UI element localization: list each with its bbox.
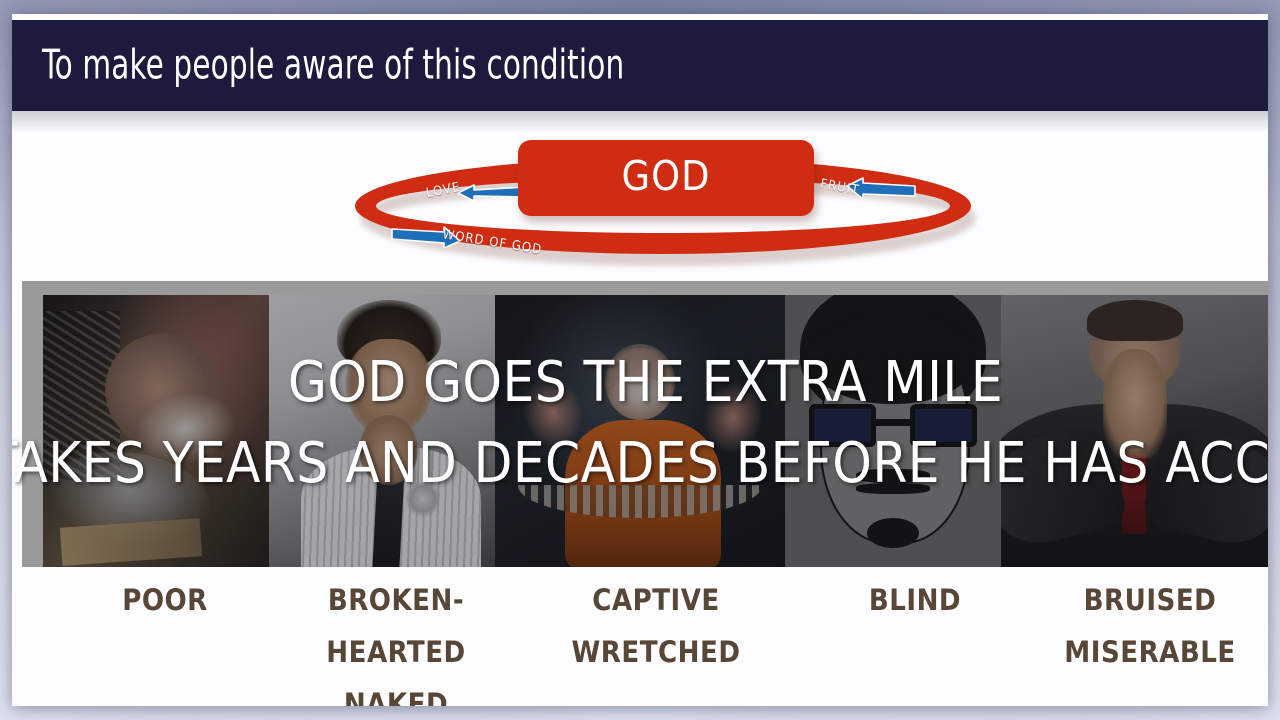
label-column-poor: POOR (80, 574, 250, 626)
condition-word: MISERABLE (1032, 626, 1268, 678)
photo-poor (43, 295, 269, 567)
god-cycle-diagram: LOVE FRUIT WORD OF GOD GOD (350, 144, 980, 274)
photo-strip (22, 281, 1268, 567)
page-title: To make people aware of this condition (42, 44, 624, 85)
photo-row (43, 295, 1268, 567)
banner-shadow (12, 111, 1268, 133)
label-column-broken-hearted: BROKEN-HEARTED NAKED (272, 574, 520, 706)
condition-word: BRUISED (1032, 574, 1268, 626)
photo-bruised (1001, 295, 1268, 567)
condition-word: CAPTIVE (532, 574, 780, 626)
condition-word: POOR (80, 574, 250, 626)
presentation-slide: To make people aware of this condition L… (12, 14, 1268, 706)
label-column-captive: CAPTIVE WRETCHED (532, 574, 780, 678)
photo-captive (495, 295, 785, 567)
photo-blind (785, 295, 1001, 567)
condition-word: BLIND (812, 574, 1018, 626)
label-column-blind: BLIND (812, 574, 1018, 626)
condition-word: BROKEN-HEARTED (272, 574, 520, 678)
label-column-bruised: BRUISED MISERABLE (1032, 574, 1268, 678)
photo-broken-hearted (269, 295, 495, 567)
title-banner: To make people aware of this condition (12, 20, 1268, 111)
condition-word: WRETCHED (532, 626, 780, 678)
god-label: GOD (518, 152, 814, 200)
god-box: GOD (518, 140, 814, 216)
condition-labels: POOR BROKEN-HEARTED NAKED CAPTIVE WRETCH… (22, 574, 1268, 692)
condition-word: NAKED (272, 678, 520, 706)
slide-stage: To make people aware of this condition L… (0, 0, 1280, 720)
sunglasses-icon (809, 404, 977, 448)
